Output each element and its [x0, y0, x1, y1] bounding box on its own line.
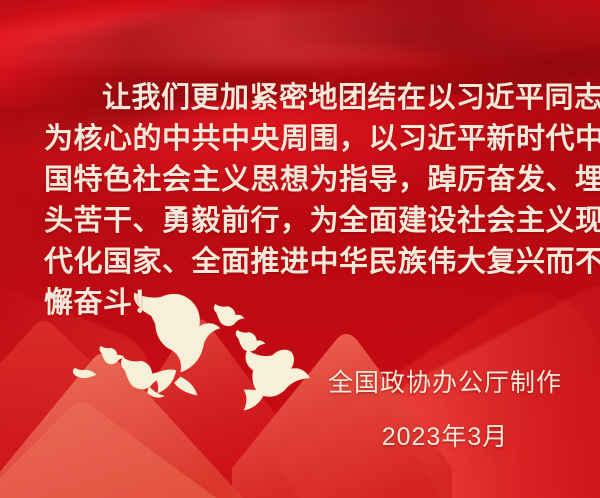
credit-date: 2023年3月 [328, 420, 562, 454]
poster-canvas: 让我们更加紧密地团结在以习近平同志 为核心的中共中央周围，以习近平新时代中 国特… [0, 0, 600, 498]
dove-right-gliding [244, 350, 311, 411]
headline-line-6: 懈奋斗！ [44, 283, 566, 324]
credit-organization: 全国政协办公厅制作 [328, 366, 562, 400]
dove-small-left [99, 346, 124, 364]
headline-line-4: 头苦干、勇毅前行，为全面建设社会主义现 [44, 201, 566, 242]
headline-line-2: 为核心的中共中央周围，以习近平新时代中 [44, 119, 566, 160]
credit-block: 全国政协办公厅制作 2023年3月 [328, 366, 562, 454]
headline-line-3: 国特色社会主义思想为指导，踔厉奋发、埋 [44, 160, 566, 201]
dove-small-right-lower [236, 330, 266, 351]
headline-block: 让我们更加紧密地团结在以习近平同志 为核心的中共中央周围，以习近平新时代中 国特… [44, 78, 566, 324]
dove-tiny-far-left [73, 368, 97, 378]
headline-line-5: 代化国家、全面推进中华民族伟大复兴而不 [44, 242, 566, 283]
headline-line-1: 让我们更加紧密地团结在以习近平同志 [44, 78, 566, 119]
